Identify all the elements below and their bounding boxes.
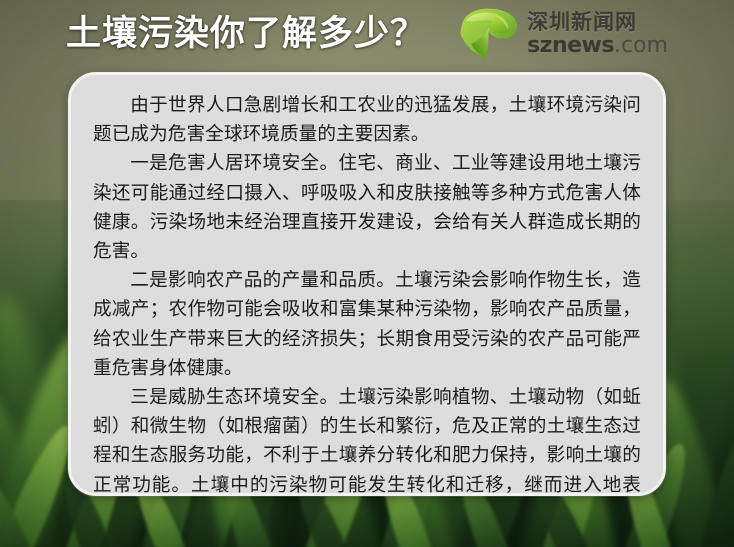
paragraph: 三是威胁生态环境安全。土壤污染影响植物、土壤动物（如蚯蚓）和微生物（如根瘤菌）的…: [93, 383, 641, 496]
logo-domain-suffix: .com: [614, 33, 668, 58]
logo-chinese-name: 深圳新闻网: [527, 12, 668, 33]
content-panel: 由于世界人口急剧增长和工农业的迅猛发展，土壤环境污染问题已成为危害全球环境质量的…: [68, 72, 666, 496]
site-logo[interactable]: 深圳新闻网 sznews.com: [458, 7, 668, 62]
content-body: 由于世界人口急剧增长和工农业的迅猛发展，土壤环境污染问题已成为危害全球环境质量的…: [71, 75, 663, 496]
paragraph: 由于世界人口急剧增长和工农业的迅猛发展，土壤环境污染问题已成为危害全球环境质量的…: [93, 91, 641, 149]
logo-text: 深圳新闻网 sznews.com: [527, 12, 668, 57]
logo-english-word: sznews: [527, 33, 614, 58]
green-leaf-swirl-icon: [458, 7, 520, 62]
page-title: 土壤污染你了解多少？: [66, 17, 444, 52]
header: 土壤污染你了解多少？: [0, 0, 734, 68]
paragraph: 一是危害人居环境安全。住宅、商业、工业等建设用地土壤污染还可能通过经口摄入、呼吸…: [93, 149, 641, 266]
slide-canvas: 土壤污染你了解多少？: [0, 0, 734, 547]
paragraph: 二是影响农产品的产量和品质。土壤污染会影响作物生长，造成减产；农作物可能会吸收和…: [93, 266, 641, 383]
logo-english-name: sznews.com: [527, 35, 668, 57]
